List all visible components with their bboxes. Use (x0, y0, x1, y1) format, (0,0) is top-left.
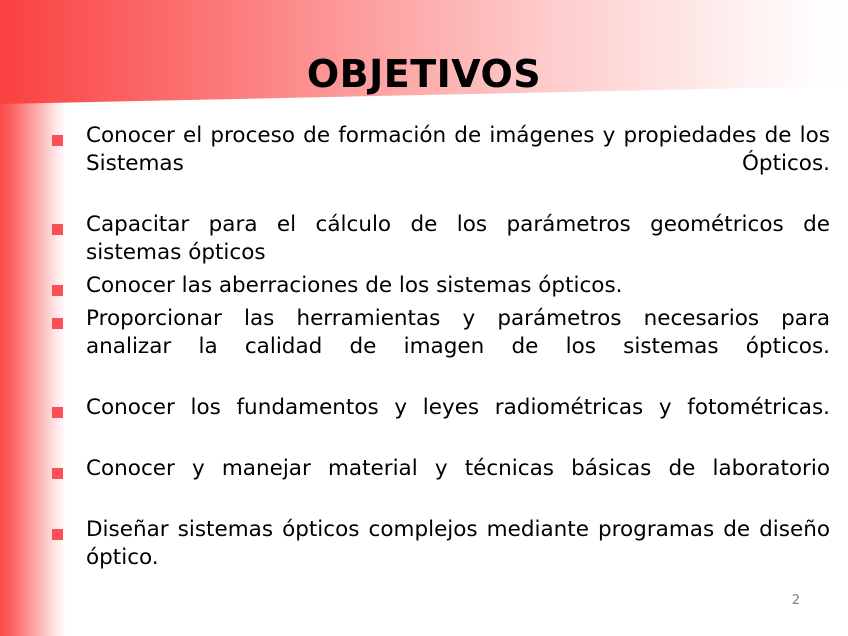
square-bullet-icon (52, 318, 63, 329)
square-bullet-icon (52, 468, 63, 479)
square-bullet-icon (52, 529, 63, 540)
list-item: Conocer y manejar material y técnicas bá… (50, 455, 830, 511)
page-number: 2 (792, 593, 800, 609)
presentation-slide: OBJETIVOS Conocer el proceso de formació… (0, 0, 848, 636)
square-bullet-icon (52, 135, 63, 146)
objectives-bullet-list: Conocer el proceso de formación de imáge… (50, 122, 830, 605)
square-bullet-icon (52, 285, 63, 296)
list-item: Conocer las aberraciones de los sistemas… (50, 272, 830, 300)
list-item-text: Conocer las aberraciones de los sistemas… (86, 272, 830, 300)
square-bullet-icon (52, 224, 63, 235)
list-item-text: Capacitar para el cálculo de los parámet… (86, 211, 830, 267)
list-item: Proporcionar las herramientas y parámetr… (50, 305, 830, 389)
list-item-text: Conocer y manejar material y técnicas bá… (86, 455, 830, 511)
list-item-text: Conocer los fundamentos y leyes radiomét… (86, 394, 830, 450)
list-item: Capacitar para el cálculo de los parámet… (50, 211, 830, 267)
list-item: Diseñar sistemas ópticos complejos media… (50, 516, 830, 600)
page-title: OBJETIVOS (0, 52, 848, 96)
list-item-text: Proporcionar las herramientas y parámetr… (86, 305, 830, 389)
list-item: Conocer el proceso de formación de imáge… (50, 122, 830, 206)
list-item-text: Conocer el proceso de formación de imáge… (86, 122, 830, 206)
square-bullet-icon (52, 407, 63, 418)
list-item: Conocer los fundamentos y leyes radiomét… (50, 394, 830, 450)
list-item-text: Diseñar sistemas ópticos complejos media… (86, 516, 830, 600)
